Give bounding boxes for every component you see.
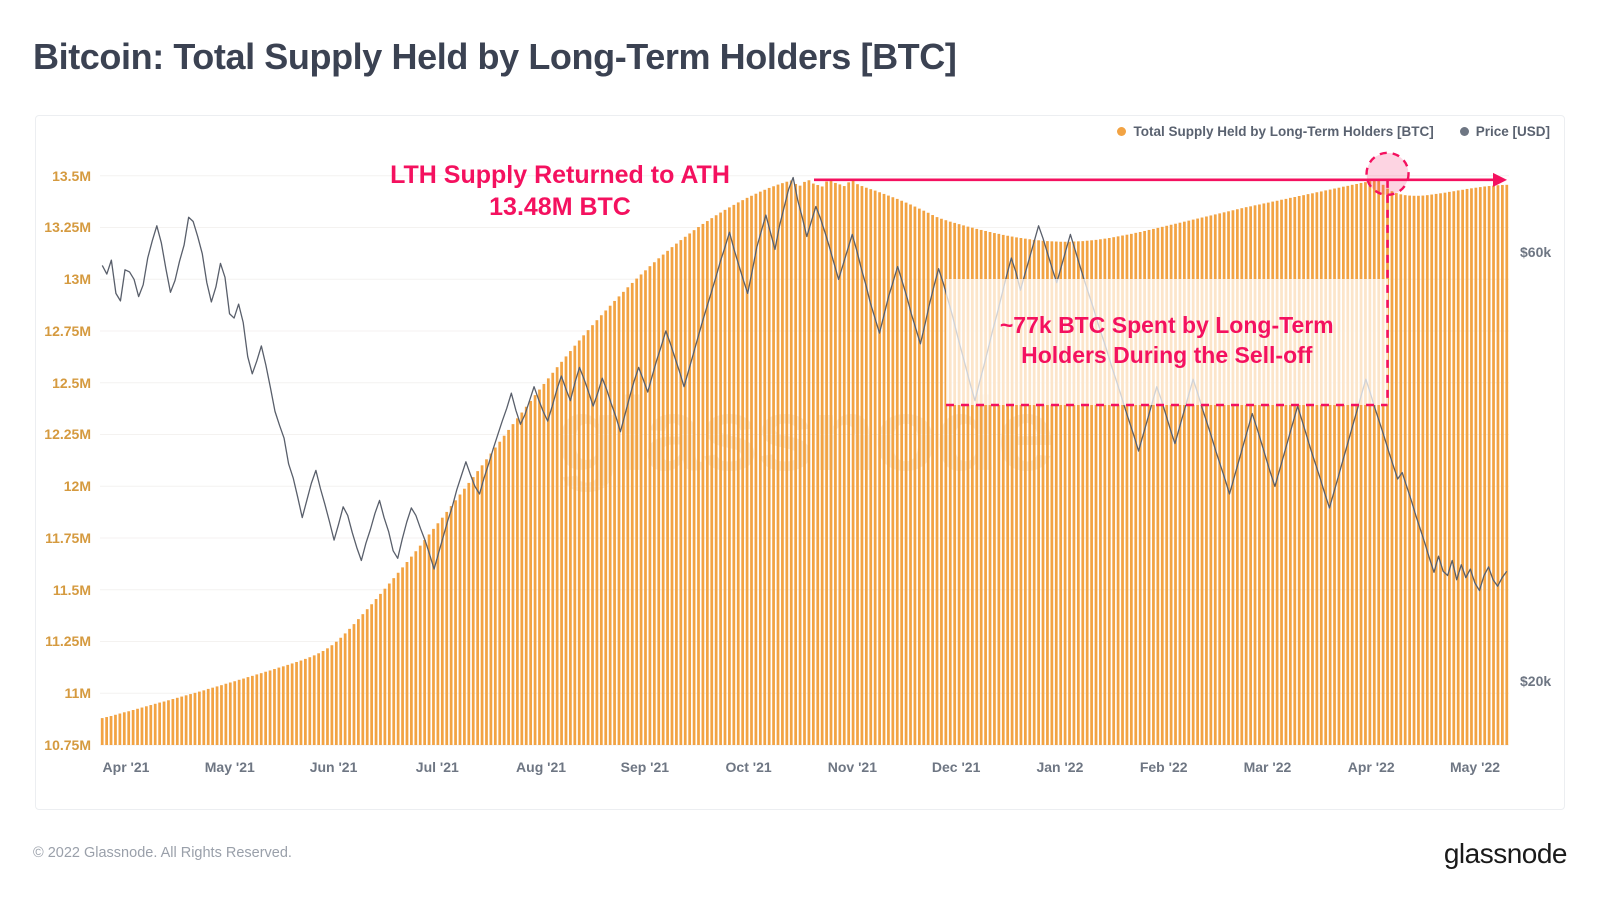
x-axis-label: Mar '22: [1244, 759, 1292, 775]
legend-item-lth-supply[interactable]: Total Supply Held by Long-Term Holders […: [1117, 124, 1433, 139]
y-axis-label: 11.5M: [53, 582, 91, 598]
x-axis-label: Dec '21: [932, 759, 980, 775]
x-axis-label: Jan '22: [1036, 759, 1083, 775]
y-axis-label: 12.5M: [52, 375, 91, 391]
annotation-overlay: [100, 155, 1509, 745]
y-axis-label: 11M: [65, 685, 91, 701]
y-axis-label: 13.5M: [52, 168, 91, 184]
x-axis-label: Aug '21: [516, 759, 566, 775]
annotation-ath-line2: 13.48M BTC: [350, 191, 770, 223]
x-axis-label: Apr '21: [103, 759, 150, 775]
annotation-ath-line1: LTH Supply Returned to ATH: [350, 159, 770, 191]
y-axis-label: 13.25M: [44, 219, 91, 235]
legend-label-lth: Total Supply Held by Long-Term Holders […: [1133, 124, 1433, 139]
chart-legend: Total Supply Held by Long-Term Holders […: [1117, 124, 1550, 139]
legend-label-price: Price [USD]: [1476, 124, 1550, 139]
y-axis-label: 12M: [64, 478, 91, 494]
x-axis-label: May '22: [1450, 759, 1500, 775]
chart-panel: Total Supply Held by Long-Term Holders […: [35, 115, 1565, 810]
legend-color-swatch-lth: [1117, 127, 1126, 136]
chart-page: Bitcoin: Total Supply Held by Long-Term …: [0, 0, 1600, 922]
y-axis-label: 11.25M: [45, 633, 91, 649]
x-axis-label: Jul '21: [416, 759, 459, 775]
footer-logo: glassnode: [1444, 838, 1567, 870]
page-title: Bitcoin: Total Supply Held by Long-Term …: [33, 36, 956, 78]
legend-color-swatch-price: [1460, 127, 1469, 136]
footer-copyright: © 2022 Glassnode. All Rights Reserved.: [33, 845, 292, 861]
plot-area: glassnode 13.5M13.25M13M12.75M12.5M12.25…: [100, 155, 1509, 745]
x-axis-label: Nov '21: [828, 759, 877, 775]
x-axis-label: Apr '22: [1348, 759, 1395, 775]
y-axis-label: 12.25M: [44, 426, 91, 442]
x-axis-label: Jun '21: [310, 759, 358, 775]
x-axis-label: May '21: [205, 759, 255, 775]
x-axis-label: Oct '21: [726, 759, 772, 775]
y-axis-right-label: $60k: [1520, 244, 1551, 260]
legend-item-price[interactable]: Price [USD]: [1460, 124, 1550, 139]
annotation-ath-callout: LTH Supply Returned to ATH 13.48M BTC: [350, 159, 770, 223]
x-axis-label: Feb '22: [1140, 759, 1188, 775]
y-axis-label: 13M: [64, 271, 91, 287]
y-axis-right-label: $20k: [1520, 673, 1551, 689]
x-axis-label: Sep '21: [621, 759, 669, 775]
y-axis-label: 10.75M: [44, 737, 91, 753]
y-axis-label: 11.75M: [45, 530, 91, 546]
y-axis-label: 12.75M: [44, 323, 91, 339]
